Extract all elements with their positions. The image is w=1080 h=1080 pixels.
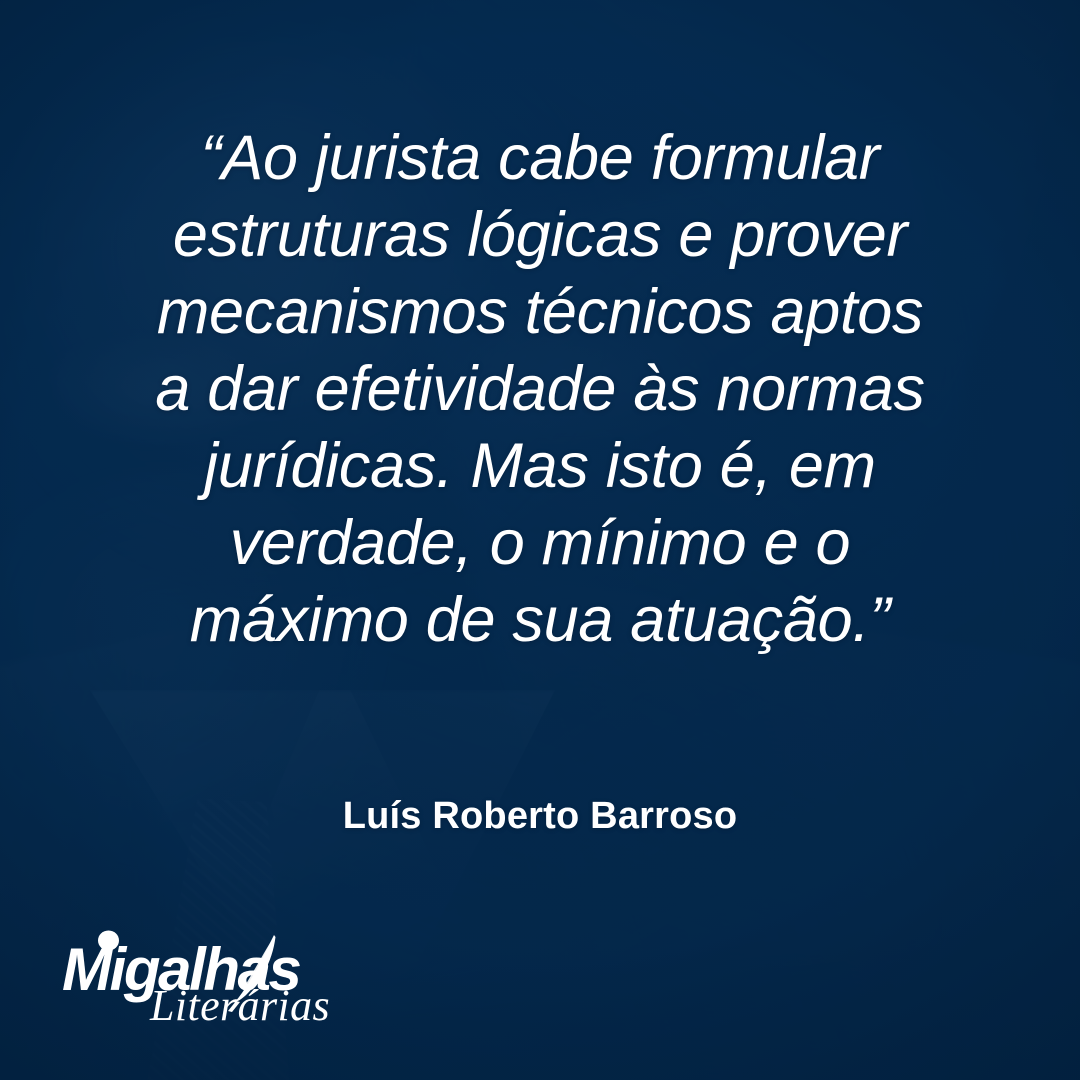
quote-line: máximo de sua atuação.” — [62, 582, 1018, 659]
quote-line: mecanismos técnicos aptos — [62, 274, 1018, 351]
quote-line: estruturas lógicas e prover — [62, 197, 1018, 274]
logo-subword: Literárias — [149, 981, 330, 1030]
quote-card: “Ao jurista cabe formular estruturas lóg… — [0, 0, 1080, 1080]
quote-line: jurídicas. Mas isto é, em — [62, 428, 1018, 505]
quote-line: a dar efetividade às normas — [62, 351, 1018, 428]
author-attribution: Luís Roberto Barroso — [0, 795, 1080, 838]
card-content: “Ao jurista cabe formular estruturas lóg… — [0, 0, 1080, 1080]
quote-text: “Ao jurista cabe formular estruturas lóg… — [62, 120, 1018, 659]
quote-line: verdade, o mínimo e o — [62, 505, 1018, 582]
quote-line: “Ao jurista cabe formular — [62, 120, 1018, 197]
migalhas-literarias-logo[interactable]: Migalhas Literárias — [62, 928, 322, 1023]
